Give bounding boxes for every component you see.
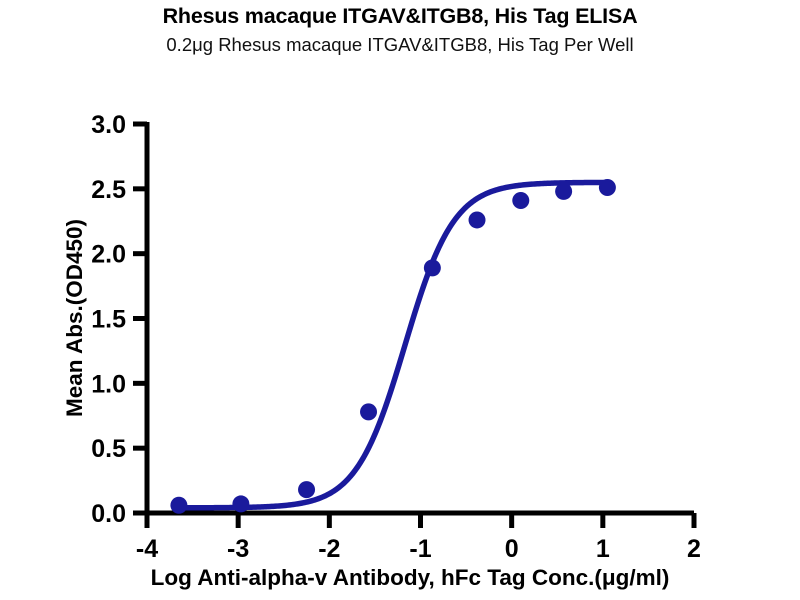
y-tick-label: 3.0 xyxy=(91,111,126,139)
data-point xyxy=(599,179,616,196)
data-point xyxy=(232,495,249,512)
x-tick-label: -4 xyxy=(136,535,158,563)
y-tick-label: 1.5 xyxy=(91,306,126,334)
chart-page: Rhesus macaque ITGAV&ITGB8, His Tag ELIS… xyxy=(0,0,800,600)
x-tick-label: -2 xyxy=(318,535,340,563)
data-points xyxy=(170,179,615,514)
y-tick-label: 1.0 xyxy=(91,370,126,398)
y-tick-label: 0.0 xyxy=(91,500,126,528)
data-point xyxy=(555,183,572,200)
x-tick-label: 1 xyxy=(596,535,610,563)
y-axis-tick-labels: 0.00.51.01.52.02.53.0 xyxy=(91,111,126,528)
fit-curve xyxy=(179,182,607,507)
x-axis-tick-labels: -4-3-2-1012 xyxy=(136,535,701,563)
x-tick-label: -3 xyxy=(227,535,249,563)
data-point xyxy=(512,192,529,209)
y-tick-label: 0.5 xyxy=(91,435,126,463)
data-point xyxy=(469,211,486,228)
y-tick-label: 2.5 xyxy=(91,176,126,204)
data-point xyxy=(360,403,377,420)
data-point xyxy=(298,481,315,498)
x-axis-title: Log Anti-alpha-v Antibody, hFc Tag Conc.… xyxy=(151,565,670,590)
data-point xyxy=(170,497,187,514)
y-axis-title: Mean Abs.(OD450) xyxy=(62,219,87,417)
y-tick-label: 2.0 xyxy=(91,241,126,269)
x-tick-label: 2 xyxy=(687,535,701,563)
x-tick-label: 0 xyxy=(505,535,519,563)
x-tick-label: -1 xyxy=(409,535,431,563)
data-point xyxy=(424,259,441,276)
elisa-plot: 0.00.51.01.52.02.53.0 -4-3-2-1012 Mean A… xyxy=(0,0,800,600)
